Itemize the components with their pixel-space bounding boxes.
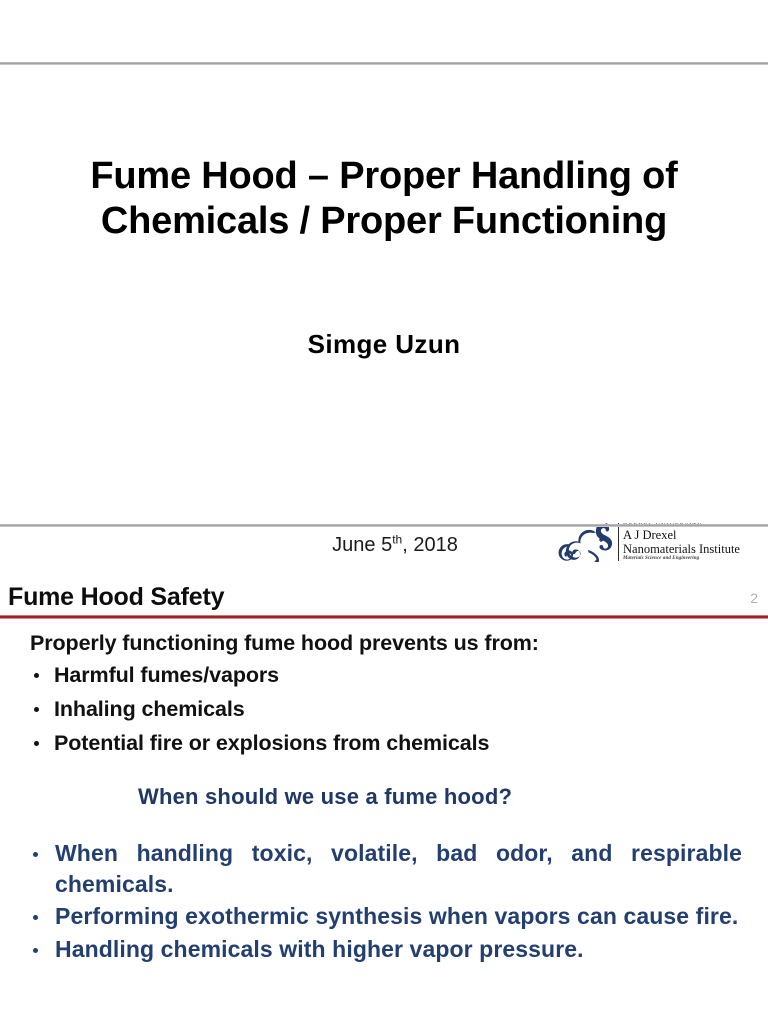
list-item-text: When handling toxic, volatile, bad odor,… bbox=[55, 840, 742, 897]
question-statement: When should we use a fume hood? bbox=[0, 784, 768, 810]
prevent-list: Harmful fumes/vapors Inhaling chemicals … bbox=[0, 660, 768, 758]
list-item-text: Performing exothermic synthesis when vap… bbox=[55, 903, 738, 929]
document-page: Fume Hood – Proper Handling of Chemicals… bbox=[0, 0, 768, 1024]
deck-title: Fume Hood – Proper Handling of Chemicals… bbox=[40, 154, 728, 244]
lead-statement: Properly functioning fume hood prevents … bbox=[30, 631, 768, 656]
list-item: Performing exothermic synthesis when vap… bbox=[22, 901, 768, 932]
usage-list: When handling toxic, volatile, bad odor,… bbox=[0, 838, 768, 964]
list-item: Potential fire or explosions from chemic… bbox=[28, 728, 768, 758]
slide-content: Fume Hood Safety 2 Properly functioning … bbox=[0, 527, 768, 1024]
slide-page-number: 2 bbox=[750, 590, 758, 606]
slide-heading: Fume Hood Safety bbox=[8, 583, 224, 612]
list-item: Inhaling chemicals bbox=[28, 694, 768, 724]
list-item: Harmful fumes/vapors bbox=[28, 660, 768, 690]
list-item: Handling chemicals with higher vapor pre… bbox=[22, 934, 768, 965]
list-item: When handling toxic, volatile, bad odor,… bbox=[22, 838, 768, 899]
slide-body: Properly functioning fume hood prevents … bbox=[0, 631, 768, 967]
deck-author: Simge Uzun bbox=[40, 329, 728, 360]
slide-title: Fume Hood – Proper Handling of Chemicals… bbox=[0, 64, 768, 525]
heading-underline bbox=[0, 615, 768, 619]
list-item-text: Handling chemicals with higher vapor pre… bbox=[55, 936, 584, 962]
